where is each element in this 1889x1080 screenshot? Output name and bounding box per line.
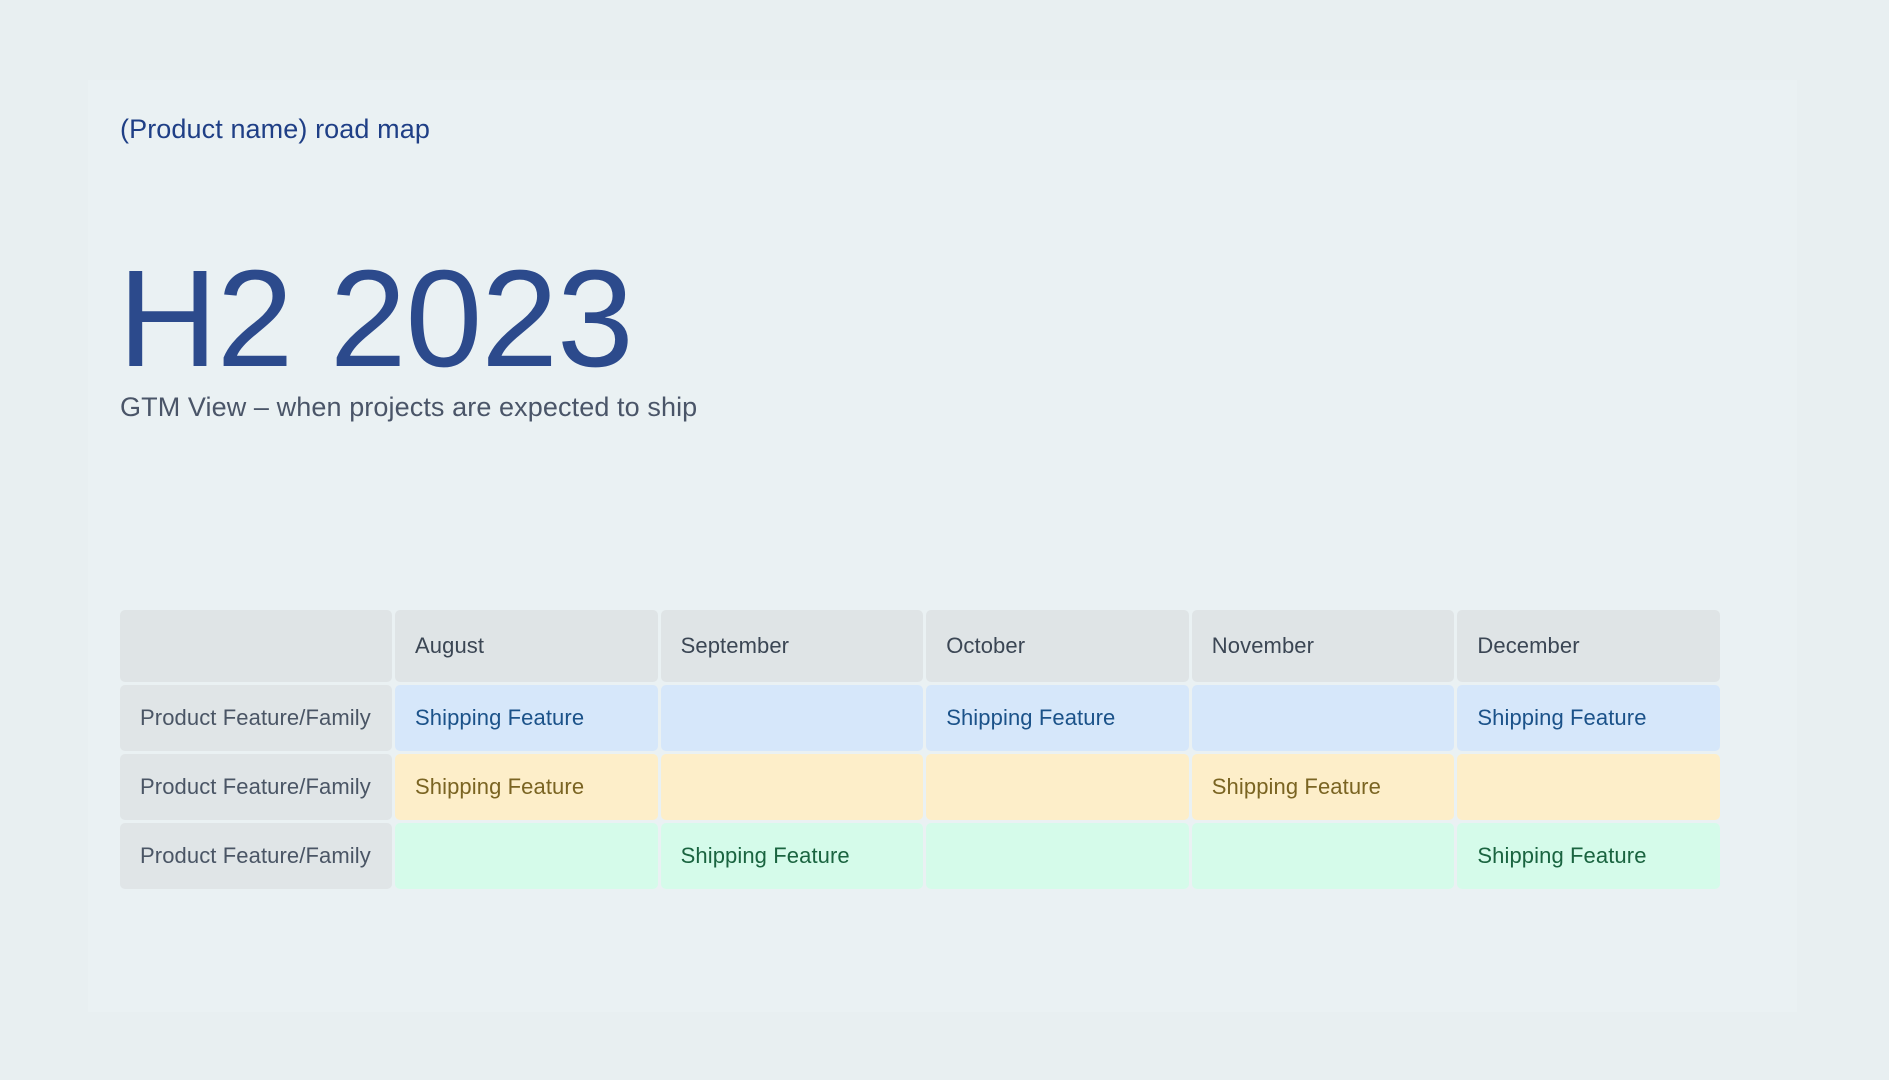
shipping-feature-cell[interactable]: Shipping Feature [661, 823, 924, 889]
table-row: Product Feature/FamilyShipping FeatureSh… [120, 823, 1720, 889]
shipping-feature-cell[interactable]: Shipping Feature [395, 685, 658, 751]
page-subtitle: GTM View – when projects are expected to… [120, 392, 697, 423]
row-label-cell[interactable]: Product Feature/Family [120, 823, 392, 889]
empty-month-cell[interactable] [1192, 823, 1455, 889]
empty-month-cell[interactable] [395, 823, 658, 889]
empty-month-cell[interactable] [1192, 685, 1455, 751]
page-title: H2 2023 [118, 250, 633, 388]
table-column-header: October [926, 610, 1189, 682]
shipping-feature-cell[interactable]: Shipping Feature [1457, 823, 1720, 889]
row-label-cell[interactable]: Product Feature/Family [120, 685, 392, 751]
table-header-row: AugustSeptemberOctoberNovemberDecember [120, 610, 1720, 682]
table-column-header: November [1192, 610, 1455, 682]
shipping-feature-cell[interactable]: Shipping Feature [926, 685, 1189, 751]
empty-month-cell[interactable] [1457, 754, 1720, 820]
table-column-header: August [395, 610, 658, 682]
slide-canvas: (Product name) road map H2 2023 GTM View… [88, 80, 1797, 1012]
shipping-feature-cell[interactable]: Shipping Feature [1192, 754, 1455, 820]
table-column-header: December [1457, 610, 1720, 682]
row-label-cell[interactable]: Product Feature/Family [120, 754, 392, 820]
empty-month-cell[interactable] [926, 823, 1189, 889]
table-row: Product Feature/FamilyShipping FeatureSh… [120, 685, 1720, 751]
table-row: Product Feature/FamilyShipping FeatureSh… [120, 754, 1720, 820]
empty-month-cell[interactable] [926, 754, 1189, 820]
empty-month-cell[interactable] [661, 685, 924, 751]
product-roadmap-eyebrow: (Product name) road map [120, 114, 430, 145]
shipping-feature-cell[interactable]: Shipping Feature [395, 754, 658, 820]
table-column-header: September [661, 610, 924, 682]
table-corner-cell [120, 610, 392, 682]
empty-month-cell[interactable] [661, 754, 924, 820]
shipping-feature-cell[interactable]: Shipping Feature [1457, 685, 1720, 751]
roadmap-table: AugustSeptemberOctoberNovemberDecemberPr… [120, 610, 1720, 889]
